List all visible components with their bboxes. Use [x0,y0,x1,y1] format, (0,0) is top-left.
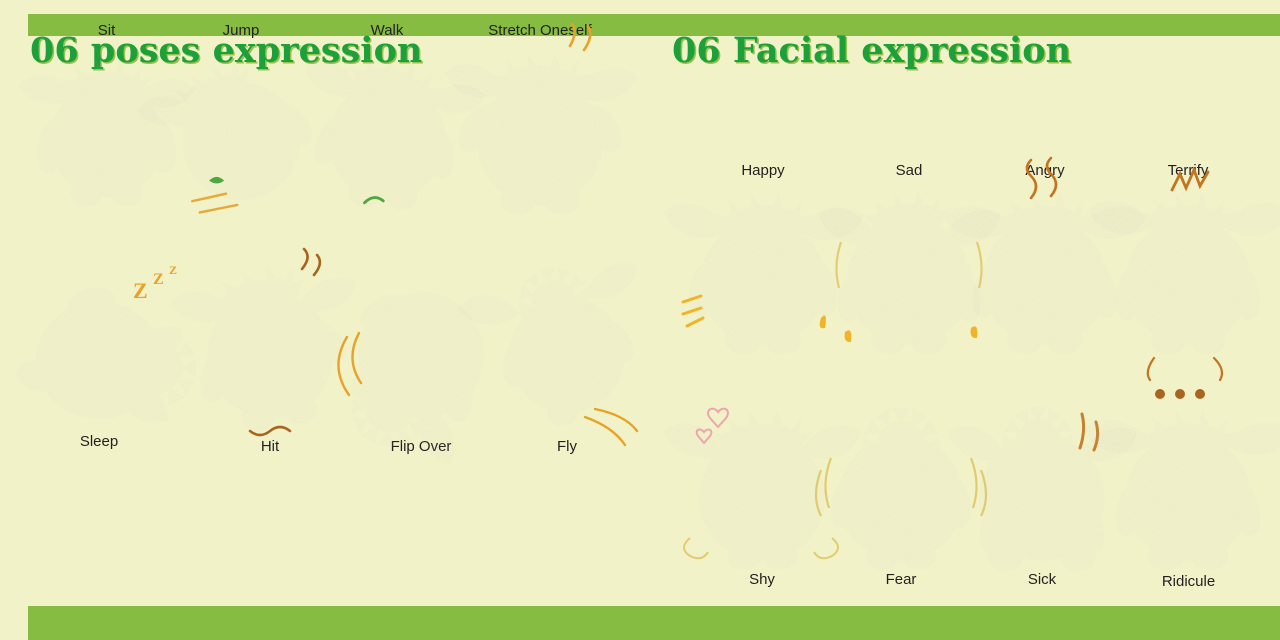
pose-hit[interactable]: Hit [190,250,350,455]
pose-fly[interactable]: Fly [492,250,642,455]
pose-stretch-oneself[interactable]: Stretch Oneself [452,22,628,227]
expression-ridicule[interactable]: Ridicule [1106,380,1271,590]
terrify-shock-marks [1172,170,1208,190]
expressions-section-title: 06 Facial expression [672,30,1071,71]
expression-fear[interactable]: Fear [826,388,976,588]
stretch-sparkles [570,24,590,50]
expression-terrify[interactable]: Terrify [1108,162,1268,372]
expression-sad[interactable]: Sad [834,162,984,362]
pose-sleep[interactable]: Sleep [14,250,184,450]
fly-trail [585,409,637,445]
angry-steam [1027,158,1056,198]
svg-text:Z: Z [153,271,164,288]
terrify-shake [1148,358,1222,380]
sleep-zzz: Z Z Z [133,263,177,303]
pose-jump[interactable]: Jump [166,22,316,237]
svg-text:Z: Z [133,278,148,303]
expressions-panel: Happy [640,140,1280,620]
poses-panel: Sit [0,0,640,480]
expression-sick[interactable]: Sick [962,388,1122,588]
svg-text:Z: Z [169,263,177,277]
expression-angry[interactable]: Angry [970,162,1120,362]
expression-happy[interactable]: Happy [688,162,838,362]
pose-flip-over[interactable]: Flip Over [336,250,506,455]
ridicule-dots [1155,389,1205,399]
expression-shy[interactable]: Shy [682,388,842,588]
pose-walk[interactable]: Walk [312,22,462,227]
